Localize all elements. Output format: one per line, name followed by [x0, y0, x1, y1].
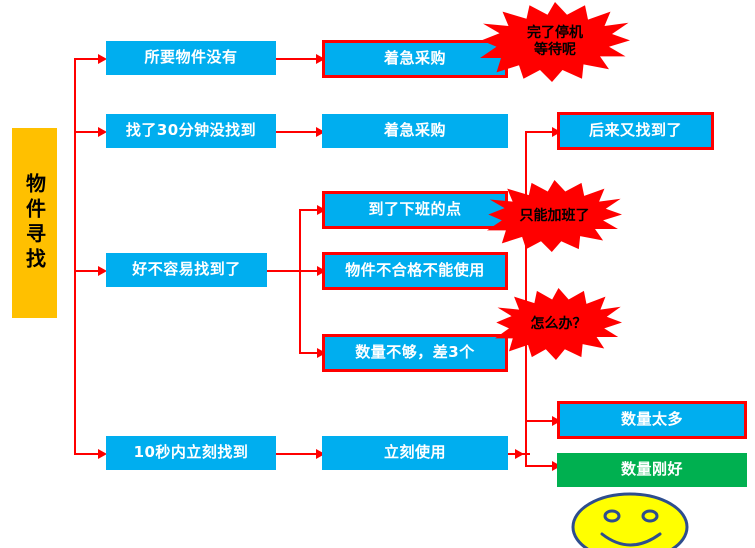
- starburst-label: 只能加班了: [520, 208, 590, 225]
- node-label: 到了下班的点: [368, 201, 461, 218]
- arrow-m6-to-spine: [515, 449, 524, 459]
- node-label: 数量不够，差3个: [355, 344, 474, 361]
- node-label: 物件不合格不能使用: [345, 262, 485, 279]
- starburst-machine-down[interactable]: 完了停机 等待呢: [480, 2, 630, 82]
- connector-n2-to-m2: [276, 131, 320, 133]
- node-label: 找了30分钟没找到: [126, 122, 256, 139]
- connector-root-trunk: [74, 58, 76, 454]
- node-label: 所要物件没有: [144, 49, 237, 66]
- node-quantity-just-right[interactable]: 数量刚好: [557, 453, 747, 487]
- connector-n1-to-m1: [276, 58, 320, 60]
- node-label: 着急采购: [384, 50, 446, 67]
- node-required-item-missing[interactable]: 所要物件没有: [106, 41, 276, 75]
- node-searched-30min-not-found[interactable]: 找了30分钟没找到: [106, 114, 276, 148]
- flowchart-canvas: 物件寻找 所要物件没有 找了30分钟没找到 好不容易找到了 10秒内立刻找到 着…: [0, 0, 755, 548]
- node-quantity-short-by-3[interactable]: 数量不够，差3个: [322, 334, 508, 372]
- starburst-must-work-overtime[interactable]: 只能加班了: [487, 180, 622, 252]
- node-label: 10秒内立刻找到: [134, 444, 249, 461]
- root-node-item-search[interactable]: 物件寻找: [12, 128, 57, 318]
- node-quantity-too-many[interactable]: 数量太多: [557, 401, 747, 439]
- node-found-within-10-seconds[interactable]: 10秒内立刻找到: [106, 436, 276, 470]
- node-label: 着急采购: [384, 122, 446, 139]
- node-urgent-purchase-b[interactable]: 着急采购: [322, 114, 508, 148]
- connector-n3-fan-spine: [299, 209, 301, 353]
- node-label: 后来又找到了: [589, 122, 682, 139]
- connector-n3-stem: [267, 270, 301, 272]
- node-label: 立刻使用: [384, 444, 446, 461]
- node-finally-found-it[interactable]: 好不容易找到了: [106, 253, 267, 287]
- node-found-it-later[interactable]: 后来又找到了: [557, 112, 714, 150]
- starburst-label: 怎么办？: [531, 316, 587, 333]
- smiley-face-icon: [570, 492, 690, 548]
- starburst-label: 完了停机 等待呢: [527, 25, 583, 59]
- connector-n4-to-m6: [276, 453, 320, 455]
- node-item-defective-unusable[interactable]: 物件不合格不能使用: [322, 252, 508, 290]
- starburst-what-to-do[interactable]: 怎么办？: [495, 288, 622, 360]
- node-label: 数量太多: [621, 411, 683, 428]
- node-label: 好不容易找到了: [132, 261, 241, 278]
- connector-right-spine-upper: [525, 131, 527, 159]
- node-label: 数量刚好: [621, 461, 683, 478]
- root-node-label: 物件寻找: [25, 173, 45, 273]
- smiley-face-shape: [570, 492, 690, 548]
- node-use-immediately[interactable]: 立刻使用: [322, 436, 508, 470]
- node-reached-end-of-shift[interactable]: 到了下班的点: [322, 191, 508, 229]
